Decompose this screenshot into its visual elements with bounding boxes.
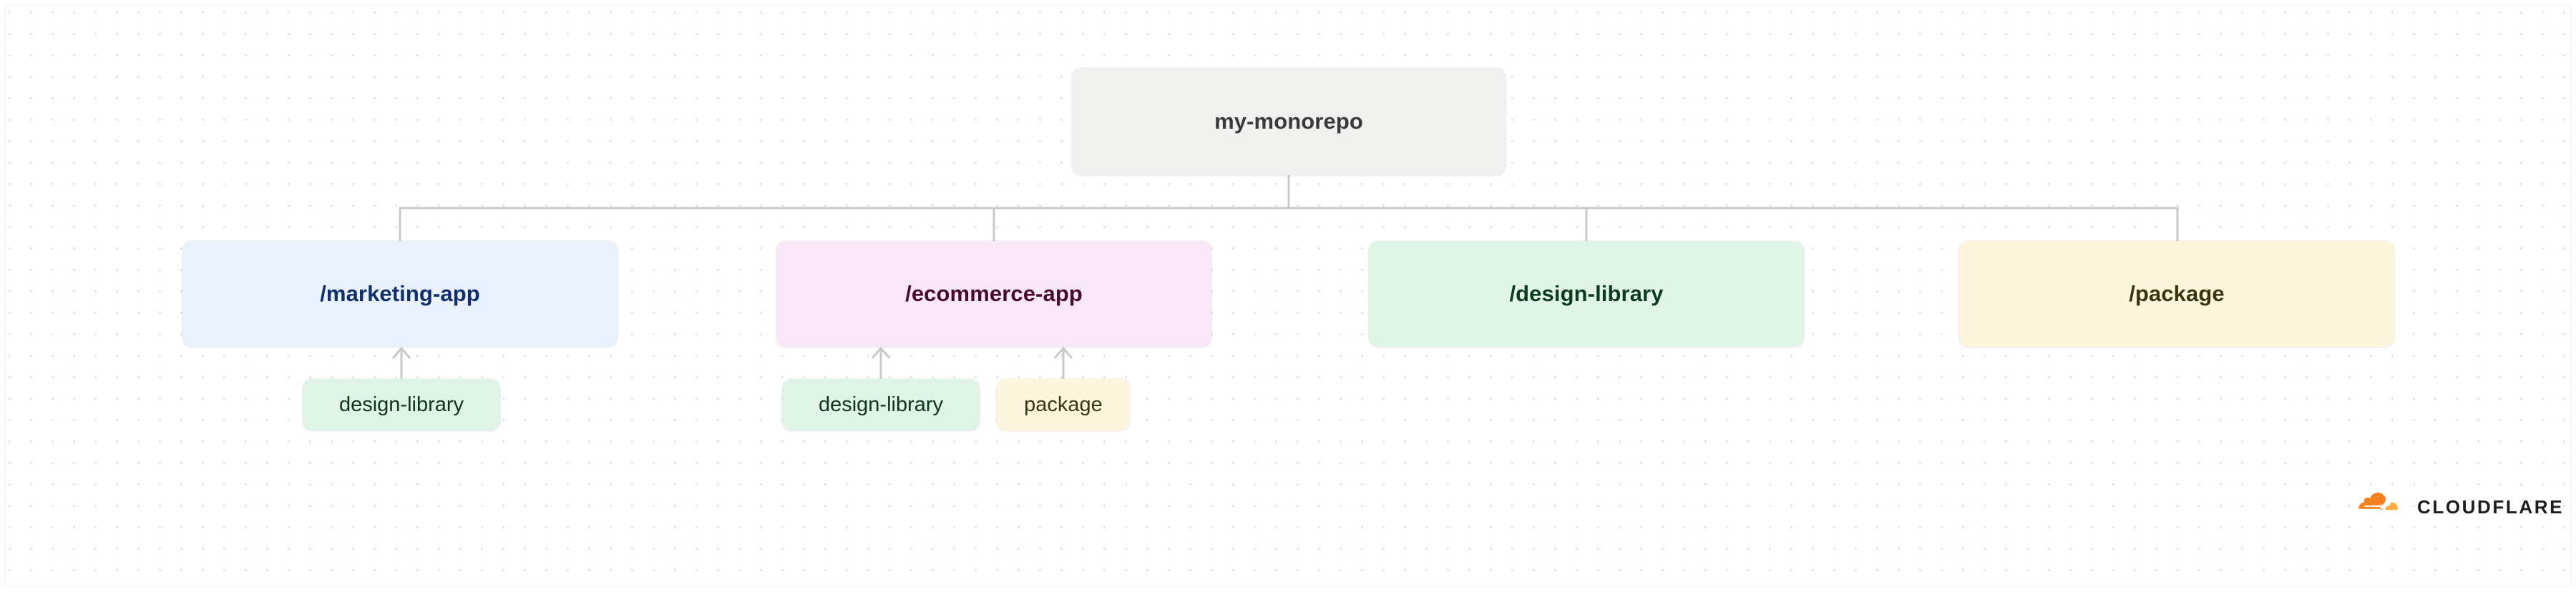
- dependency-pill-label: design-library: [339, 393, 464, 417]
- dependency-pill-label: package: [1024, 393, 1103, 417]
- node-label-design-library: /design-library: [1509, 281, 1663, 307]
- node-package[interactable]: /package: [1959, 241, 2394, 347]
- node-label-my-monorepo: my-monorepo: [1214, 109, 1363, 134]
- dependency-pill-ecommerce-package[interactable]: package: [997, 379, 1130, 430]
- dependency-pill-marketing-design-library[interactable]: design-library: [303, 379, 500, 430]
- dependency-pill-label: design-library: [819, 393, 943, 417]
- node-label-package: /package: [2129, 281, 2225, 307]
- dependency-pill-ecommerce-design-library[interactable]: design-library: [782, 379, 980, 430]
- node-design-library[interactable]: /design-library: [1369, 241, 1804, 347]
- cloudflare-wordmark: CLOUDFLARE: [2417, 496, 2564, 518]
- node-label-ecommerce-app: /ecommerce-app: [905, 281, 1083, 307]
- node-marketing-app[interactable]: /marketing-app: [182, 241, 618, 347]
- node-label-marketing-app: /marketing-app: [320, 281, 480, 307]
- node-my-monorepo[interactable]: my-monorepo: [1072, 68, 1506, 175]
- cloudflare-logo: CLOUDFLARE: [2352, 493, 2564, 521]
- node-ecommerce-app[interactable]: /ecommerce-app: [776, 241, 1211, 347]
- diagram-canvas[interactable]: my-monorepo /marketing-app /ecommerce-ap…: [0, 0, 2576, 592]
- cloudflare-cloud-icon: [2352, 493, 2408, 521]
